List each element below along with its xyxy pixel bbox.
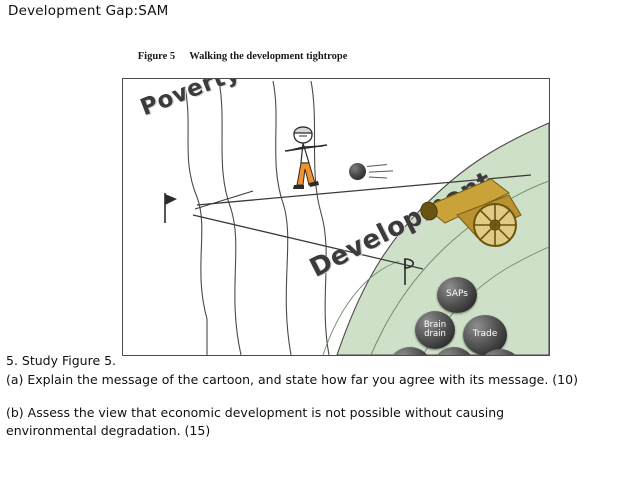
flag-icon-middle xyxy=(401,257,423,287)
figure-caption: Figure 5Walking the development tightrop… xyxy=(122,40,562,73)
cartoon-image: Poverty Development xyxy=(122,78,550,356)
figure-caption-label: Figure 5 xyxy=(138,51,175,62)
cannon-illustration xyxy=(417,171,537,257)
figure-caption-text: Walking the development tightrope xyxy=(189,51,347,62)
slide: Development Gap:SAM Figure 5Walking the … xyxy=(0,0,638,479)
flag-icon-left xyxy=(161,191,183,225)
question-part-b-line2: environmental degradation. (15) xyxy=(6,422,632,440)
figure-block: Figure 5Walking the development tightrop… xyxy=(122,40,562,356)
cannonball-in-flight xyxy=(349,163,366,180)
question-intro: 5. Study Figure 5. xyxy=(6,352,632,370)
tightrope-walker-figure xyxy=(271,119,341,201)
ball-saps: SAPs xyxy=(437,277,477,313)
question-part-a: (a) Explain the message of the cartoon, … xyxy=(6,371,632,389)
ball-brain-drain: Brain drain xyxy=(415,311,455,349)
page-title: Development Gap:SAM xyxy=(8,3,169,19)
question-part-b-line1: (b) Assess the view that economic develo… xyxy=(6,404,632,422)
